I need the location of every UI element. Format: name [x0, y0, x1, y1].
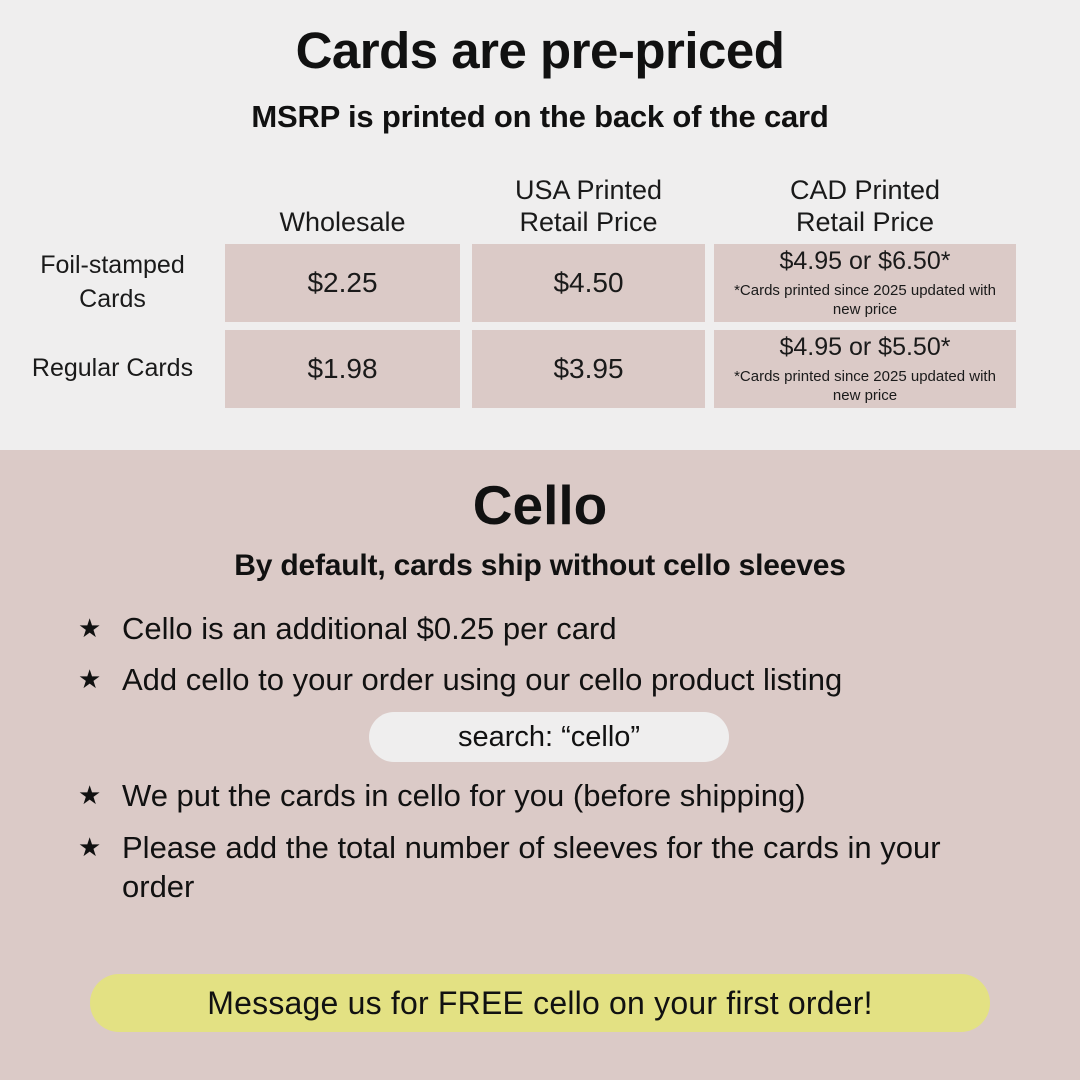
cello-bullet-list: ★ Cello is an additional $0.25 per card …	[40, 609, 1040, 907]
cell-foil-cad-retail-note: *Cards printed since 2025 updated with n…	[714, 282, 1016, 320]
list-item-label: Add cello to your order using our cello …	[122, 660, 1020, 700]
page-title: Cards are pre-priced	[0, 22, 1080, 81]
column-header-cad-printed: CAD Printed Retail Price	[714, 175, 1016, 244]
star-icon: ★	[78, 660, 122, 698]
cello-subtitle: By default, cards ship without cello sle…	[40, 549, 1040, 583]
row-label-regular-cards: Regular Cards	[0, 330, 225, 408]
search-hint-label: search: “cello”	[458, 721, 640, 754]
list-item: ★ Cello is an additional $0.25 per card	[78, 609, 1020, 649]
free-cello-cta-label: Message us for FREE cello on your first …	[207, 985, 872, 1022]
table-row: Regular Cards $1.98 $3.95 $4.95 or $5.50…	[0, 330, 1080, 408]
column-header-cad-line1: CAD Printed	[714, 175, 1016, 206]
star-icon: ★	[78, 776, 122, 814]
pricing-section: Cards are pre-priced MSRP is printed on …	[0, 0, 1080, 450]
pricing-table: Wholesale USA Printed Retail Price CAD P…	[0, 160, 1080, 408]
list-item: ★ We put the cards in cello for you (bef…	[78, 776, 1020, 816]
cell-regular-usa-retail-value: $3.95	[553, 352, 623, 386]
star-icon: ★	[78, 828, 122, 866]
free-cello-cta-banner[interactable]: Message us for FREE cello on your first …	[90, 974, 990, 1032]
search-pill-container: search: “cello”	[78, 712, 1020, 762]
row-label-regular-line1: Regular Cards	[32, 352, 193, 386]
list-item: ★ Add cello to your order using our cell…	[78, 660, 1020, 700]
list-item-label: We put the cards in cello for you (befor…	[122, 776, 1020, 816]
column-header-usa-line1: USA Printed	[472, 175, 705, 206]
star-icon: ★	[78, 609, 122, 647]
cell-foil-cad-retail-value: $4.95 or $6.50*	[780, 246, 951, 277]
list-item-label: Please add the total number of sleeves f…	[122, 828, 1020, 907]
cta-container: Message us for FREE cello on your first …	[0, 974, 1080, 1032]
search-hint-pill[interactable]: search: “cello”	[369, 712, 729, 762]
cell-foil-wholesale-value: $2.25	[307, 266, 377, 300]
row-label-foil-stamped-cards: Foil-stamped Cards	[0, 244, 225, 322]
cello-title: Cello	[40, 450, 1040, 535]
cell-regular-cad-retail: $4.95 or $5.50* *Cards printed since 202…	[714, 330, 1016, 408]
cell-regular-cad-retail-value: $4.95 or $5.50*	[780, 332, 951, 363]
cell-regular-usa-retail: $3.95	[472, 330, 705, 408]
cell-foil-cad-retail: $4.95 or $6.50* *Cards printed since 202…	[714, 244, 1016, 322]
cell-foil-usa-retail-value: $4.50	[553, 266, 623, 300]
column-header-cad-line2: Retail Price	[714, 207, 1016, 238]
column-header-wholesale-label: Wholesale	[225, 207, 460, 238]
infographic-page: Cards are pre-priced MSRP is printed on …	[0, 0, 1080, 1080]
cello-section: Cello By default, cards ship without cel…	[0, 450, 1080, 1080]
cell-regular-wholesale-value: $1.98	[307, 352, 377, 386]
cell-regular-wholesale: $1.98	[225, 330, 460, 408]
page-subtitle: MSRP is printed on the back of the card	[0, 99, 1080, 135]
list-item: ★ Please add the total number of sleeves…	[78, 828, 1020, 907]
column-header-usa-line2: Retail Price	[472, 207, 705, 238]
column-header-wholesale: Wholesale	[225, 207, 460, 244]
column-header-usa-printed: USA Printed Retail Price	[472, 175, 705, 244]
row-label-foil-line1: Foil-stamped	[40, 249, 185, 283]
row-label-foil-line2: Cards	[40, 283, 185, 317]
list-item-label: Cello is an additional $0.25 per card	[122, 609, 1020, 649]
table-row: Foil-stamped Cards $2.25 $4.50 $4.95 or …	[0, 244, 1080, 322]
cell-foil-usa-retail: $4.50	[472, 244, 705, 322]
table-header-row: Wholesale USA Printed Retail Price CAD P…	[0, 160, 1080, 244]
cell-regular-cad-retail-note: *Cards printed since 2025 updated with n…	[714, 368, 1016, 406]
cell-foil-wholesale: $2.25	[225, 244, 460, 322]
